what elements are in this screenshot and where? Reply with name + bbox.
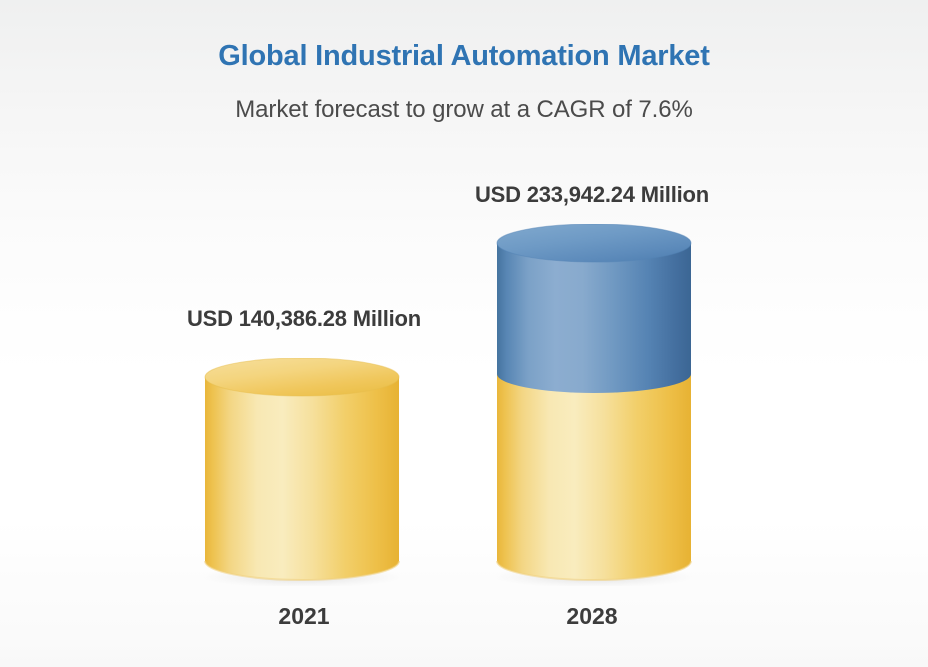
chart-subtitle: Market forecast to grow at a CAGR of 7.6… bbox=[0, 96, 928, 124]
bar-2028-graphic bbox=[496, 224, 692, 586]
chart-canvas: Global Industrial Automation Market Mark… bbox=[0, 0, 928, 667]
value-label-2021: USD 140,386.28 Million bbox=[104, 306, 504, 332]
category-label-2028: 2028 bbox=[472, 603, 712, 630]
bar-cylinder-2028[interactable] bbox=[496, 224, 692, 586]
value-label-2028: USD 233,942.24 Million bbox=[392, 182, 792, 208]
page-title: Global Industrial Automation Market bbox=[0, 40, 928, 73]
category-label-2021: 2021 bbox=[184, 603, 424, 630]
bar-2021-graphic bbox=[204, 358, 400, 586]
bar-cylinder-2021[interactable] bbox=[204, 358, 400, 586]
